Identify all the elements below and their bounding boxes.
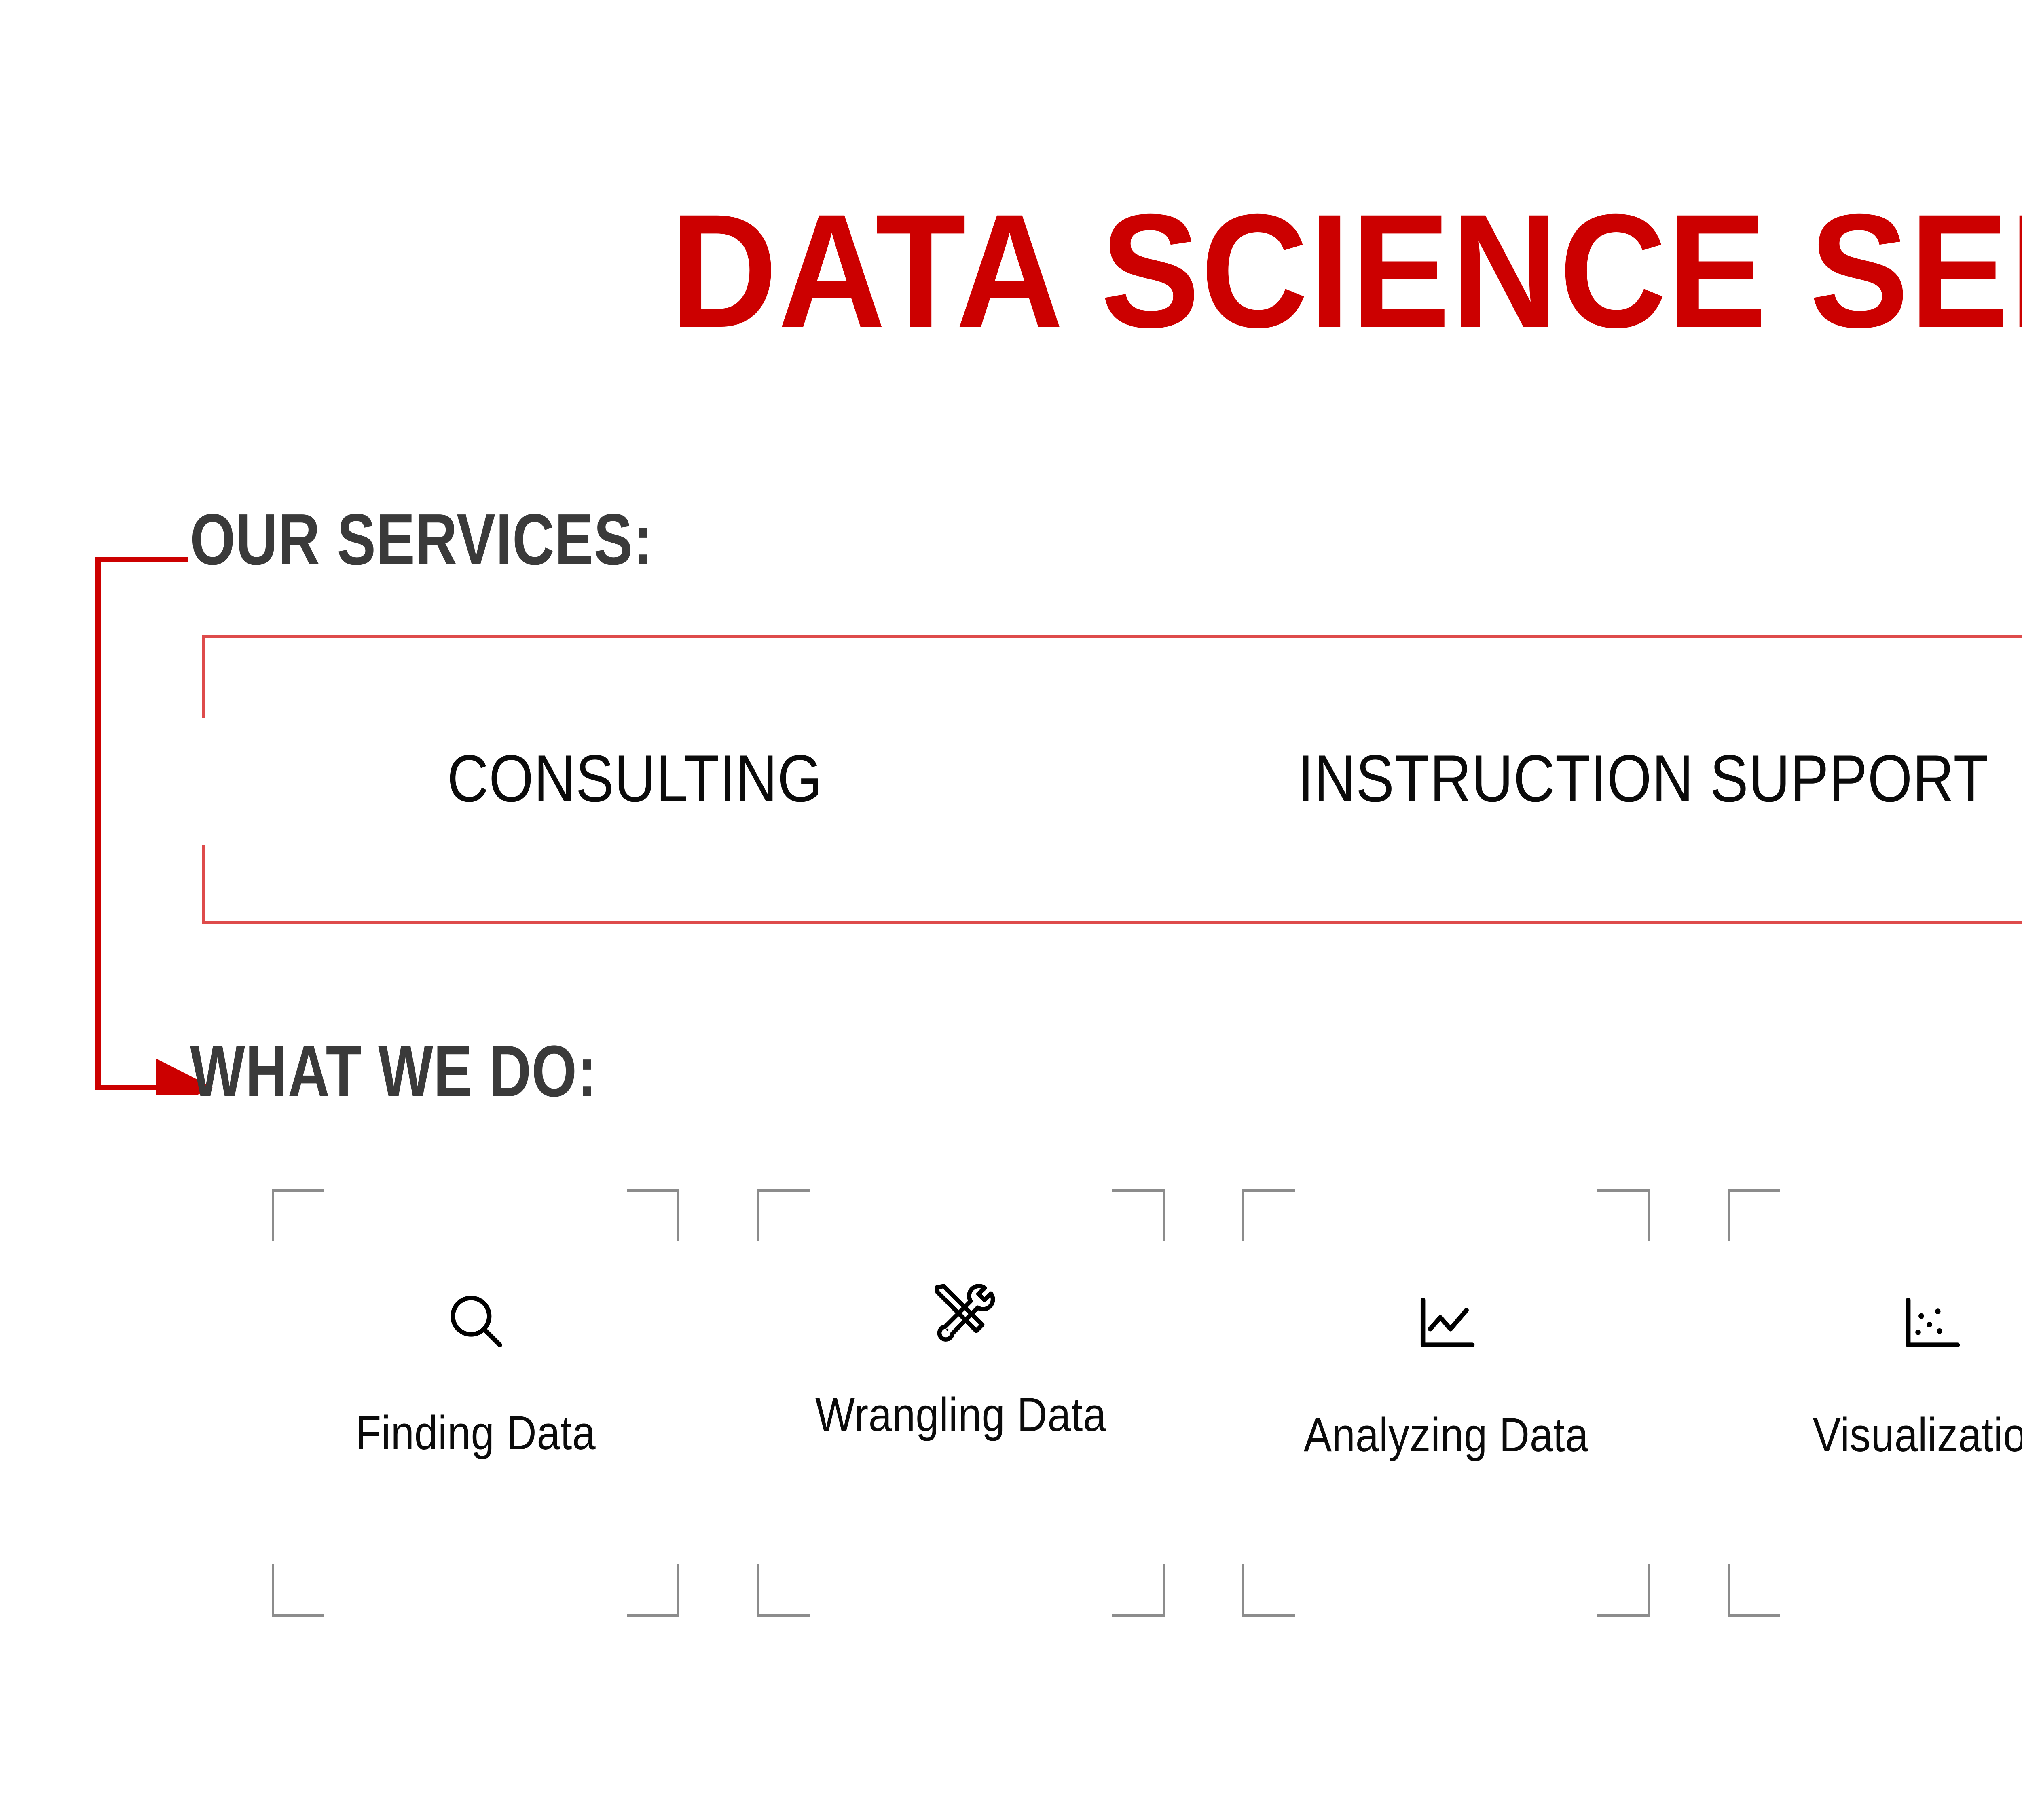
page-title: DATA SCIENCE SERVICES	[129, 190, 2022, 352]
heading-our-services: OUR SERVICES:	[190, 503, 653, 576]
card-wrangling-data[interactable]: Wrangling Data	[757, 1189, 1165, 1617]
services-box-edge-left-bottom	[202, 845, 205, 924]
corner-bracket-top-right	[1597, 1189, 1650, 1241]
corner-bracket-bottom-left	[1728, 1564, 1780, 1617]
service-item-consulting[interactable]: CONSULTING	[447, 745, 823, 812]
corner-bracket-top-left	[272, 1189, 324, 1241]
card-visualization[interactable]: Visualization	[1728, 1189, 2022, 1617]
corner-bracket-bottom-left	[757, 1564, 810, 1617]
corner-bracket-bottom-left	[1242, 1564, 1295, 1617]
screwdriver-wrench-icon	[757, 1277, 1165, 1351]
card-label-wrangling-data: Wrangling Data	[781, 1385, 1140, 1445]
corner-bracket-top-left	[757, 1189, 810, 1241]
service-item-instruction-support[interactable]: INSTRUCTION SUPPORT	[1298, 745, 1989, 812]
services-label-row: CONSULTING INSTRUCTION SUPPORT SPECIALIZ…	[202, 718, 2022, 839]
card-label-visualization: Visualization	[1752, 1405, 2022, 1465]
card-label-analyzing-data: Analyzing Data	[1267, 1405, 1625, 1465]
corner-bracket-top-right	[1112, 1189, 1165, 1241]
magnifying-glass-icon	[272, 1286, 679, 1359]
heading-what-we-do: WHAT WE DO:	[190, 1035, 597, 1108]
scatter-plot-icon	[1728, 1290, 2022, 1359]
corner-bracket-top-left	[1728, 1189, 1780, 1241]
corner-bracket-top-right	[627, 1189, 679, 1241]
corner-bracket-bottom-right	[627, 1564, 679, 1617]
services-box-edge-left-top	[202, 635, 205, 718]
services-box-edge-bottom	[202, 921, 2022, 924]
line-chart-icon	[1242, 1290, 1650, 1359]
connector-bottom-stub	[95, 1085, 176, 1090]
corner-bracket-bottom-right	[1597, 1564, 1650, 1617]
corner-bracket-top-left	[1242, 1189, 1295, 1241]
card-finding-data[interactable]: Finding Data	[272, 1189, 679, 1617]
corner-bracket-bottom-right	[1112, 1564, 1165, 1617]
corner-bracket-bottom-left	[272, 1564, 324, 1617]
connector-top-stub	[95, 557, 188, 562]
services-box-edge-top	[202, 635, 2022, 638]
card-label-finding-data: Finding Data	[296, 1403, 655, 1463]
card-analyzing-data[interactable]: Analyzing Data	[1242, 1189, 1650, 1617]
connector-spine	[95, 557, 101, 1090]
what-we-do-card-row: Finding Data Wrangling Data	[0, 1189, 2022, 1617]
